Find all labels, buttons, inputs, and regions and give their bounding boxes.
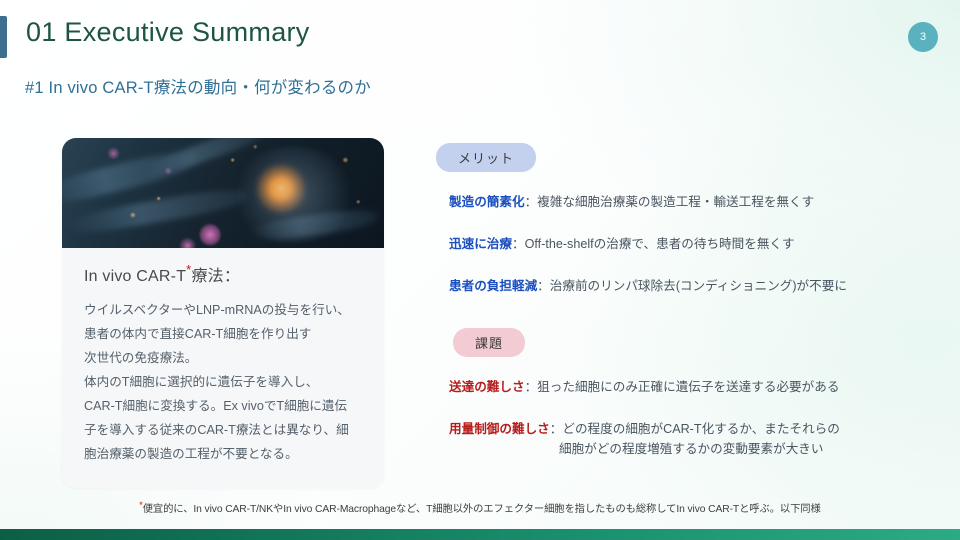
issues-section: 課題 送達の難しさ：狙った細胞にのみ正確に遺伝子を送達する必要がある 用量制御の…	[436, 328, 936, 459]
issue-item-label: 送達の難しさ	[449, 380, 525, 394]
merit-item-sep: ：	[525, 195, 538, 209]
merit-item-text: Off-the-shelfの治療で、患者の待ち時間を無くす	[525, 237, 795, 251]
card-title-suffix: 療法：	[191, 268, 240, 285]
merit-item-sep: ：	[537, 279, 550, 293]
merit-item-text: 複雑な細胞治療薬の製造工程・輸送工程を無くす	[537, 195, 814, 209]
card-title-main: In vivo CAR-T	[84, 268, 186, 285]
issues-list: 送達の難しさ：狙った細胞にのみ正確に遺伝子を送達する必要がある 用量制御の難しさ…	[436, 377, 936, 459]
card-body: In vivo CAR-T*療法： ウイルスベクターやLNP-mRNAの投与を行…	[62, 248, 384, 488]
title-accent-bar	[0, 16, 7, 58]
issue-item-sep: ：	[525, 380, 538, 394]
merit-item: 迅速に治療：Off-the-shelfの治療で、患者の待ち時間を無くす	[449, 234, 936, 254]
issue-item-sep: ：	[550, 422, 563, 436]
merit-item: 製造の簡素化：複雑な細胞治療薬の製造工程・輸送工程を無くす	[449, 192, 936, 212]
card-title: In vivo CAR-T*療法：	[84, 262, 362, 286]
issue-item: 用量制御の難しさ：どの程度の細胞がCAR-T化するか、またそれらの 細胞がどの程…	[449, 419, 936, 459]
issue-item-text: 狙った細胞にのみ正確に遺伝子を送達する必要がある	[537, 380, 839, 394]
merits-badge: メリット	[436, 143, 536, 172]
issue-item-label: 用量制御の難しさ	[449, 422, 550, 436]
cell-illustration-image	[62, 138, 384, 248]
card-description-line: 患者の体内で直接CAR-T細胞を作り出す	[84, 322, 362, 346]
issue-item-continuation: 細胞がどの程度増殖するかの変動要素が大きい	[449, 439, 936, 459]
merit-item-label: 製造の簡素化	[449, 195, 525, 209]
card-description-line: 体内のT細胞に選択的に遺伝子を導入し、	[84, 370, 362, 394]
page-number-badge: 3	[908, 22, 938, 52]
slide-canvas: 01 Executive Summary #1 In vivo CAR-T療法の…	[0, 0, 960, 540]
card-description-line: ウイルスベクターやLNP-mRNAの投与を行い、	[84, 298, 362, 322]
concept-card: In vivo CAR-T*療法： ウイルスベクターやLNP-mRNAの投与を行…	[62, 138, 384, 488]
issues-badge: 課題	[453, 328, 525, 357]
issue-item: 送達の難しさ：狙った細胞にのみ正確に遺伝子を送達する必要がある	[449, 377, 936, 397]
footnote: *便宜的に、In vivo CAR-T/NKやIn vivo CAR-Macro…	[139, 500, 820, 515]
footer-gradient-bar	[0, 529, 960, 540]
card-description-line: 次世代の免疫療法。	[84, 346, 362, 370]
merit-item-label: 患者の負担軽減	[449, 279, 537, 293]
merit-item-sep: ：	[512, 237, 525, 251]
card-description-line: CAR-T細胞に変換する。Ex vivoでT細胞に遺伝	[84, 394, 362, 418]
right-column: メリット 製造の簡素化：複雑な細胞治療薬の製造工程・輸送工程を無くす 迅速に治療…	[436, 143, 936, 459]
merits-list: 製造の簡素化：複雑な細胞治療薬の製造工程・輸送工程を無くす 迅速に治療：Off-…	[436, 192, 936, 296]
footnote-text: 便宜的に、In vivo CAR-T/NKやIn vivo CAR-Macrop…	[143, 504, 821, 515]
page-subtitle: #1 In vivo CAR-T療法の動向・何が変わるのか	[25, 74, 371, 98]
merit-item-text: 治療前のリンパ球除去(コンディショニング)が不要に	[550, 279, 847, 293]
page-title: 01 Executive Summary	[26, 17, 310, 48]
card-description-line: 子を導入する従来のCAR-T療法とは異なり、細	[84, 418, 362, 442]
merit-item-label: 迅速に治療	[449, 237, 512, 251]
card-description-line: 胞治療薬の製造の工程が不要となる。	[84, 442, 362, 466]
card-description: ウイルスベクターやLNP-mRNAの投与を行い、 患者の体内で直接CAR-T細胞…	[84, 298, 362, 466]
merits-section: メリット 製造の簡素化：複雑な細胞治療薬の製造工程・輸送工程を無くす 迅速に治療…	[436, 143, 936, 296]
issue-item-text: どの程度の細胞がCAR-T化するか、またそれらの	[562, 422, 840, 436]
merit-item: 患者の負担軽減：治療前のリンパ球除去(コンディショニング)が不要に	[449, 276, 936, 296]
